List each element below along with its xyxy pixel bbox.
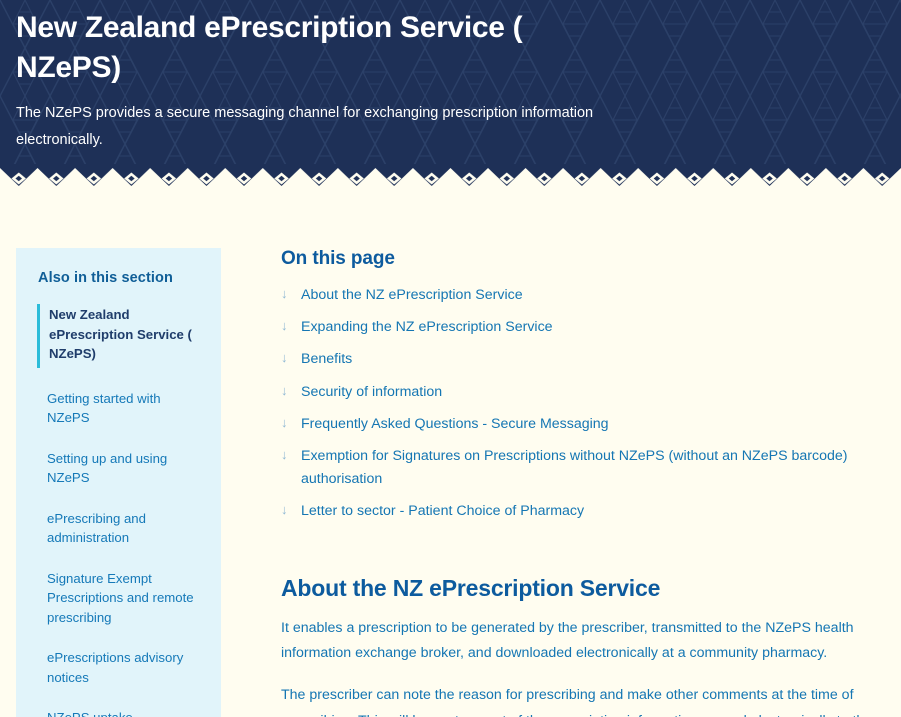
about-paragraph-1: It enables a prescription to be generate… — [281, 616, 885, 667]
page-subtitle: The NZePS provides a secure messaging ch… — [16, 100, 616, 154]
on-this-page-item: ↓ About the NZ ePrescription Service — [281, 284, 885, 307]
sidebar-item-getting-started[interactable]: Getting started with NZePS — [38, 389, 203, 428]
on-this-page-item: ↓ Exemption for Signatures on Prescripti… — [281, 445, 885, 490]
page-title: New Zealand ePrescription Service ( NZeP… — [16, 8, 616, 87]
on-this-page-item: ↓ Security of information — [281, 381, 885, 404]
arrow-down-icon: ↓ — [281, 503, 294, 516]
on-this-page-link-security[interactable]: Security of information — [301, 381, 442, 404]
on-this-page-item: ↓ Benefits — [281, 348, 885, 371]
on-this-page-item: ↓ Frequently Asked Questions - Secure Me… — [281, 413, 885, 436]
sidebar-item-advisory-notices[interactable]: ePrescriptions advisory notices — [38, 648, 203, 687]
arrow-down-icon: ↓ — [281, 448, 294, 461]
on-this-page-link-about[interactable]: About the NZ ePrescription Service — [301, 284, 523, 307]
sidebar-item-eprescribing-and-administration[interactable]: ePrescribing and administration — [38, 509, 203, 548]
arrow-down-icon: ↓ — [281, 351, 294, 364]
about-section-heading: About the NZ ePrescription Service — [281, 575, 885, 602]
arrow-down-icon: ↓ — [281, 319, 294, 332]
content-area: Also in this section New Zealand ePrescr… — [0, 190, 901, 717]
sidebar-heading: Also in this section — [38, 270, 203, 286]
sidebar-item-nzeps[interactable]: New Zealand ePrescription Service ( NZeP… — [37, 304, 203, 368]
on-this-page-item: ↓ Letter to sector - Patient Choice of P… — [281, 500, 885, 523]
page-root: New Zealand ePrescription Service ( NZeP… — [0, 0, 901, 717]
on-this-page-link-letter-to-sector[interactable]: Letter to sector - Patient Choice of Pha… — [301, 500, 584, 523]
page-hero: New Zealand ePrescription Service ( NZeP… — [0, 0, 901, 190]
about-paragraph-2: The prescriber can note the reason for p… — [281, 683, 885, 717]
on-this-page-heading: On this page — [281, 248, 885, 270]
arrow-down-icon: ↓ — [281, 384, 294, 397]
main-content: On this page ↓ About the NZ ePrescriptio… — [221, 248, 901, 717]
arrow-down-icon: ↓ — [281, 287, 294, 300]
zigzag-divider — [0, 164, 901, 190]
on-this-page-link-expanding[interactable]: Expanding the NZ ePrescription Service — [301, 316, 553, 339]
on-this-page-item: ↓ Expanding the NZ ePrescription Service — [281, 316, 885, 339]
sidebar-also-in-this-section: Also in this section New Zealand ePrescr… — [16, 248, 221, 717]
sidebar-item-signature-exempt-prescriptions[interactable]: Signature Exempt Prescriptions and remot… — [38, 569, 203, 628]
on-this-page-list: ↓ About the NZ ePrescription Service ↓ E… — [281, 284, 885, 523]
arrow-down-icon: ↓ — [281, 416, 294, 429]
on-this-page-link-faq[interactable]: Frequently Asked Questions - Secure Mess… — [301, 413, 609, 436]
on-this-page-link-benefits[interactable]: Benefits — [301, 348, 352, 371]
sidebar-item-setting-up-and-using[interactable]: Setting up and using NZePS — [38, 449, 203, 488]
sidebar-item-nzeps-uptake[interactable]: NZePS uptake — [38, 708, 203, 717]
on-this-page-link-exemption[interactable]: Exemption for Signatures on Prescription… — [301, 445, 885, 490]
